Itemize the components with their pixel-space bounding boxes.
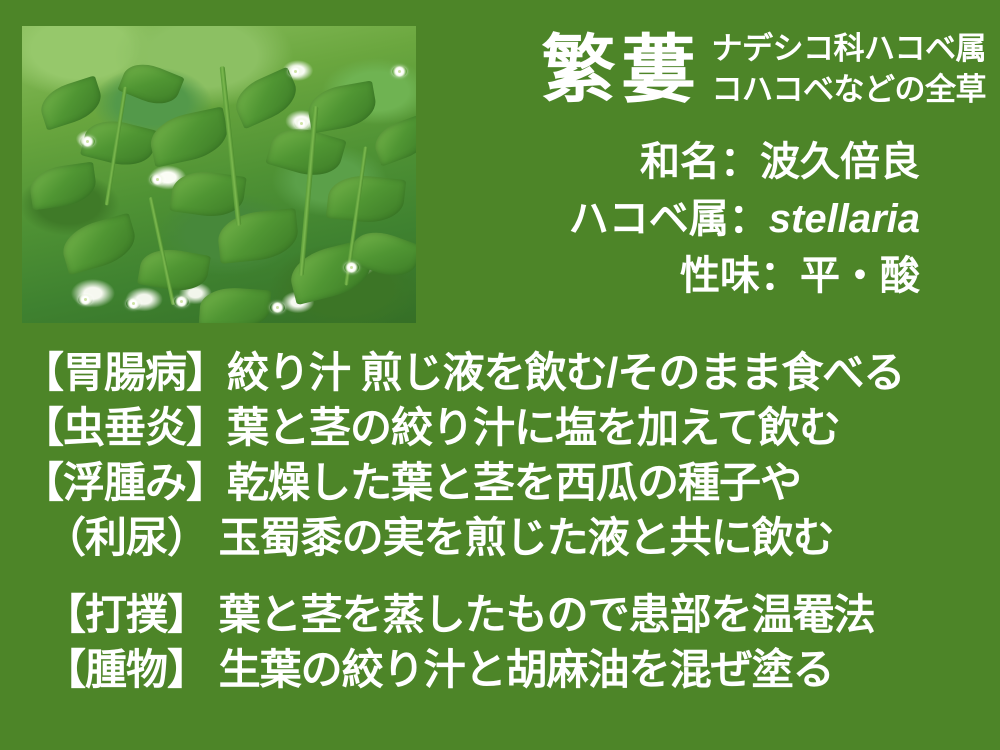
remedy-line-appendicitis: 【虫垂炎】葉と茎の絞り汁に塩を加えて飲む [22,400,982,455]
remedy-line-diuretic: （利尿） 玉蜀黍の実を煎じた液と共に飲む [22,510,982,565]
remedy-line-gastrointestinal: 【胃腸病】絞り汁 煎じ液を飲む/そのまま食べる [22,345,982,400]
info-line-genus: ハコベ属：stellaria [430,191,920,248]
remedy-line-edema: 【浮腫み】乾燥した葉と茎を西瓜の種子や [22,455,982,510]
poster-header: 繁蔞 ナデシコ科ハコベ属 コハコベなどの全草 [430,22,986,127]
info-line-nature-taste: 性味：平・酸 [430,248,920,305]
page-title: 繁蔞 [542,24,702,116]
herb-info-poster: 繁蔞 ナデシコ科ハコベ属 コハコベなどの全草 和名：波久倍良 ハコベ属：stel… [0,0,1000,750]
subtitle-line-family: ナデシコ科ハコベ属 [712,28,987,69]
plant-photo-foliage [22,26,416,323]
info-genus-latin: stellaria [769,197,920,241]
subtitle-line-part: コハコベなどの全草 [712,69,987,110]
remedy-line-bruise: 【打撲】 葉と茎を蒸したもので患部を温罨法 [22,587,982,642]
remedy-line-swelling: 【腫物】 生葉の絞り汁と胡麻油を混ぜ塗る [22,642,982,697]
info-block: 和名：波久倍良 ハコベ属：stellaria 性味：平・酸 [430,134,920,305]
remedy-list: 【胃腸病】絞り汁 煎じ液を飲む/そのまま食べる 【虫垂炎】葉と茎の絞り汁に塩を加… [22,345,982,697]
info-genus-label: ハコベ属： [569,197,769,241]
info-line-japanese-name: 和名：波久倍良 [430,134,920,191]
subtitle-block: ナデシコ科ハコベ属 コハコベなどの全草 [712,28,987,110]
plant-photo [22,26,416,323]
